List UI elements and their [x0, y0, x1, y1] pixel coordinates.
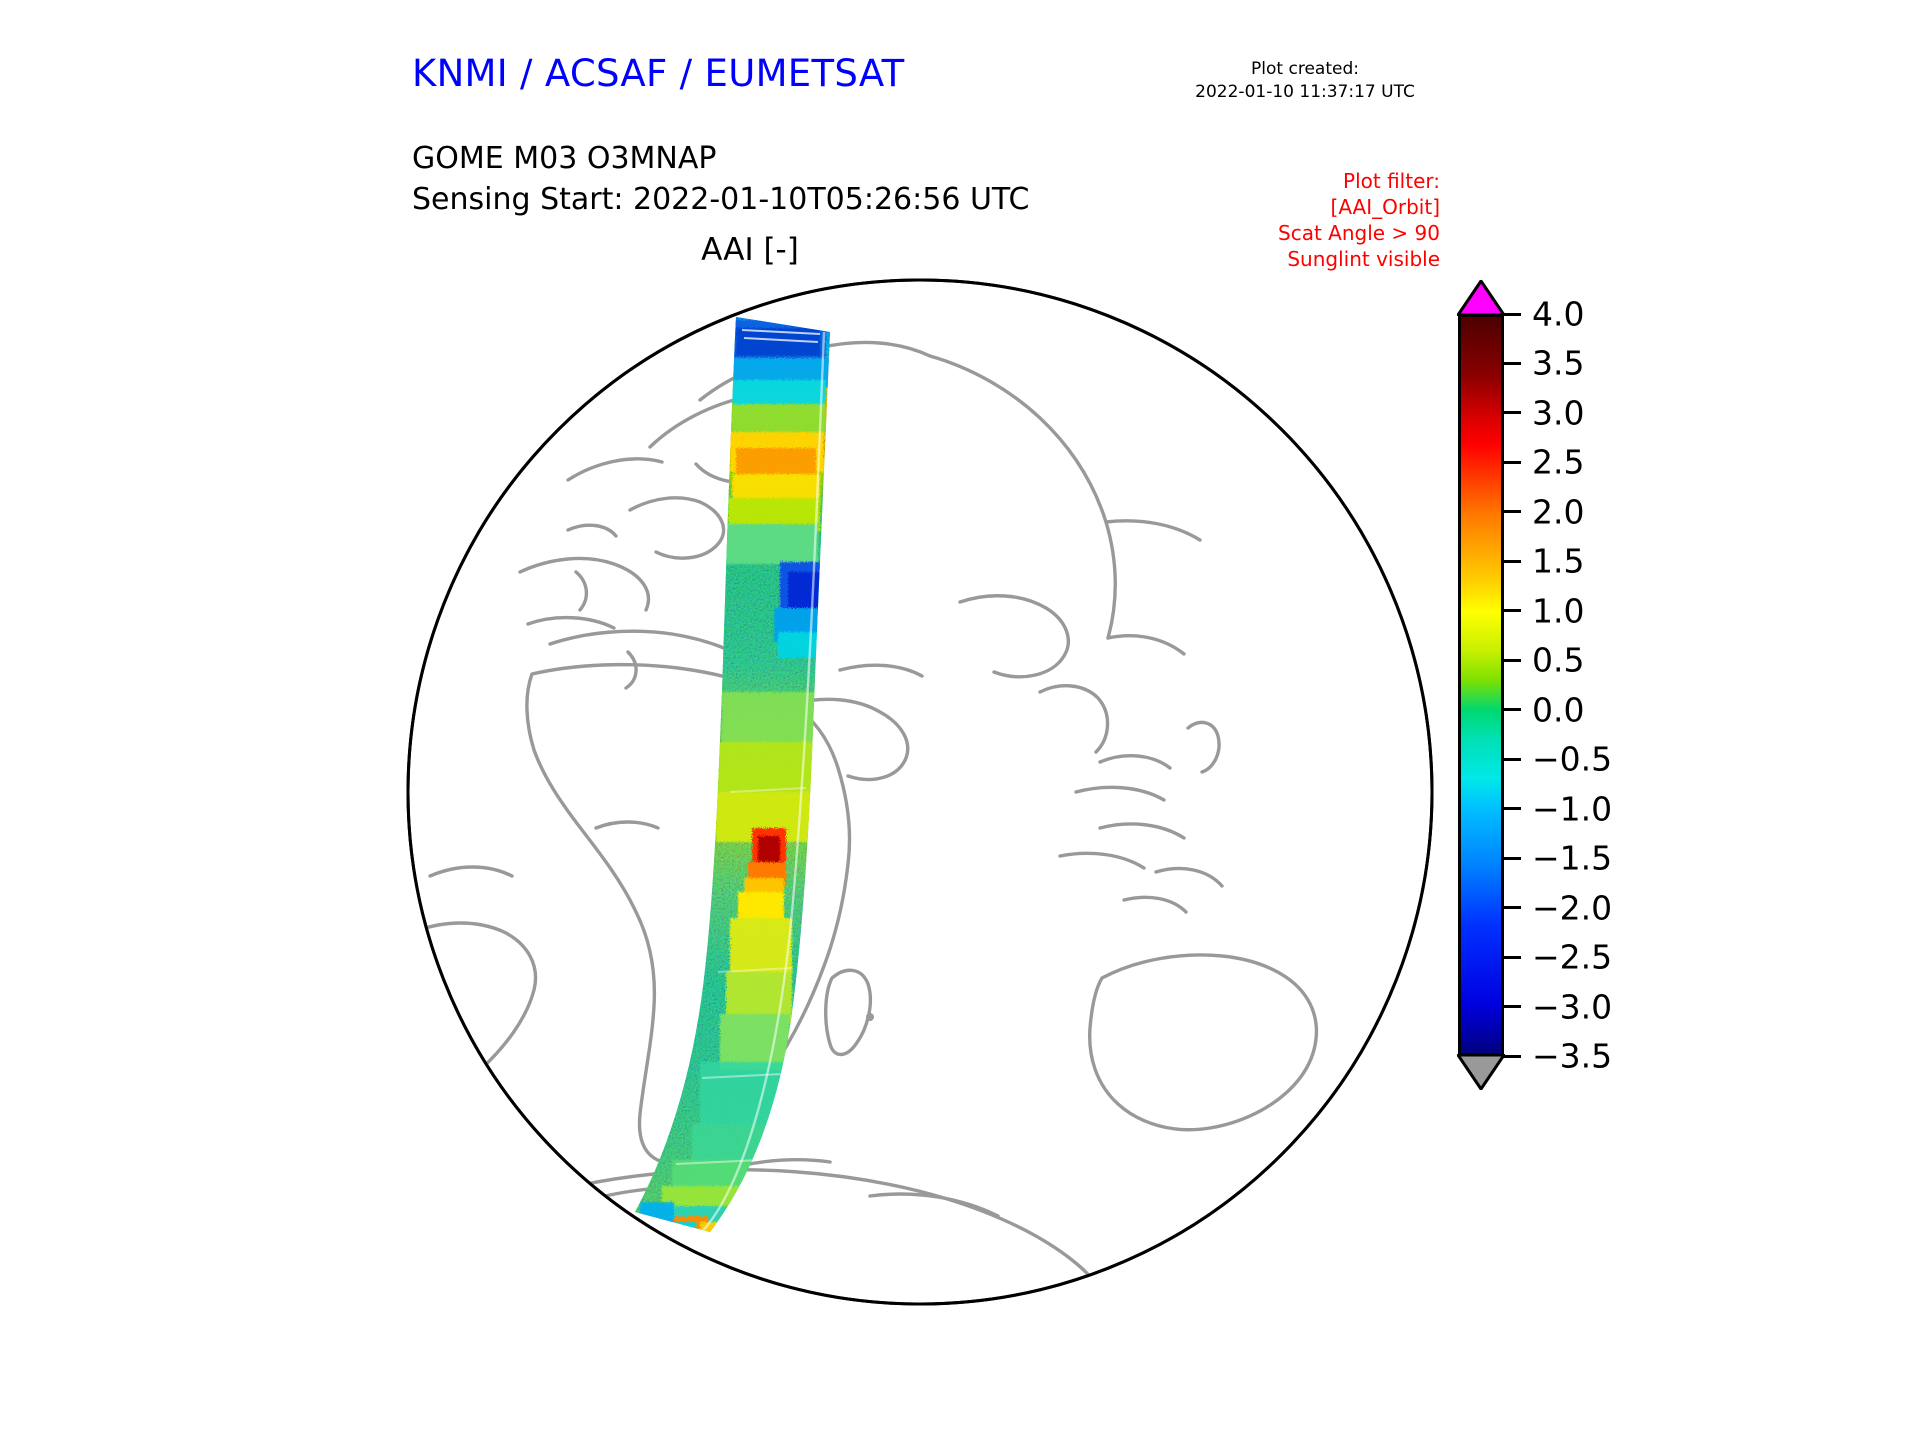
sensing-start-line: Sensing Start: 2022-01-10T05:26:56 UTC	[412, 179, 1029, 220]
colorbar-tick	[1504, 659, 1521, 662]
colorbar-tick-label: −1.5	[1532, 842, 1612, 875]
colorbar-tick-label: −2.0	[1532, 891, 1612, 924]
colorbar-wrap: 4.03.53.02.52.01.51.00.50.0−0.5−1.0−1.5−…	[1458, 280, 1504, 1090]
colorbar-tick	[1504, 461, 1521, 464]
plot-filter-label: Plot filter:	[1170, 168, 1440, 194]
colorbar-tick-label: −3.5	[1532, 1040, 1612, 1073]
colorbar-tick-label: 0.5	[1532, 644, 1584, 677]
instrument-line: GOME M03 O3MNAP	[412, 138, 1029, 179]
colorbar-tick	[1504, 857, 1521, 860]
colorbar-tick	[1504, 1005, 1521, 1008]
colorbar-gradient	[1461, 317, 1501, 1053]
colorbar-tick-label: −3.0	[1532, 990, 1612, 1023]
colorbar-tick-label: 1.5	[1532, 545, 1584, 578]
colorbar-tick-label: 1.0	[1532, 594, 1584, 627]
colorbar-tick-label: 4.0	[1532, 298, 1584, 331]
colorbar-tick	[1504, 956, 1521, 959]
plot-filter-block: Plot filter: [AAI_Orbit] Scat Angle > 90…	[1170, 168, 1440, 272]
globe-outline	[408, 280, 1432, 1304]
colorbar-under-range-arrow	[1457, 1054, 1505, 1090]
colorbar-tick-label: −2.5	[1532, 941, 1612, 974]
plot-created-timestamp: 2022-01-10 11:37:17 UTC	[1160, 81, 1450, 104]
colorbar: 4.03.53.02.52.01.51.00.50.0−0.5−1.0−1.5−…	[1440, 280, 1770, 1090]
colorbar-tick-label: 3.5	[1532, 347, 1584, 380]
colorbar-tick-label: −1.0	[1532, 792, 1612, 825]
plot-created-label: Plot created:	[1160, 58, 1450, 81]
colorbar-over-range-arrow	[1457, 280, 1505, 316]
colorbar-tick-label: −0.5	[1532, 743, 1612, 776]
colorbar-tick	[1504, 807, 1521, 810]
dataset-block: GOME M03 O3MNAP Sensing Start: 2022-01-1…	[412, 138, 1029, 220]
globe-orthographic-projection	[400, 272, 1440, 1312]
colorbar-tick	[1504, 560, 1521, 563]
map-area	[400, 272, 1440, 1312]
swath-stray-pixel	[866, 1013, 874, 1021]
plot-filter-scat-angle: Scat Angle > 90	[1170, 220, 1440, 246]
colorbar-tick-label: 0.0	[1532, 693, 1584, 726]
colorbar-tick-label: 2.5	[1532, 446, 1584, 479]
colorbar-tick	[1504, 411, 1521, 414]
plot-filter-name: [AAI_Orbit]	[1170, 194, 1440, 220]
colorbar-tick	[1504, 510, 1521, 513]
organisations-title: KNMI / ACSAF / EUMETSAT	[412, 52, 905, 95]
colorbar-tick	[1504, 313, 1521, 316]
quantity-label: AAI [-]	[600, 232, 900, 268]
plot-created-block: Plot created: 2022-01-10 11:37:17 UTC	[1160, 58, 1450, 104]
colorbar-tick	[1504, 708, 1521, 711]
colorbar-tick-label: 2.0	[1532, 495, 1584, 528]
colorbar-tick	[1504, 609, 1521, 612]
plot-filter-sunglint: Sunglint visible	[1170, 246, 1440, 272]
colorbar-tick-label: 3.0	[1532, 396, 1584, 429]
colorbar-tick	[1504, 362, 1521, 365]
colorbar-gradient-bar	[1458, 314, 1504, 1056]
colorbar-tick	[1504, 906, 1521, 909]
colorbar-tick	[1504, 758, 1521, 761]
colorbar-tick	[1504, 1055, 1521, 1058]
